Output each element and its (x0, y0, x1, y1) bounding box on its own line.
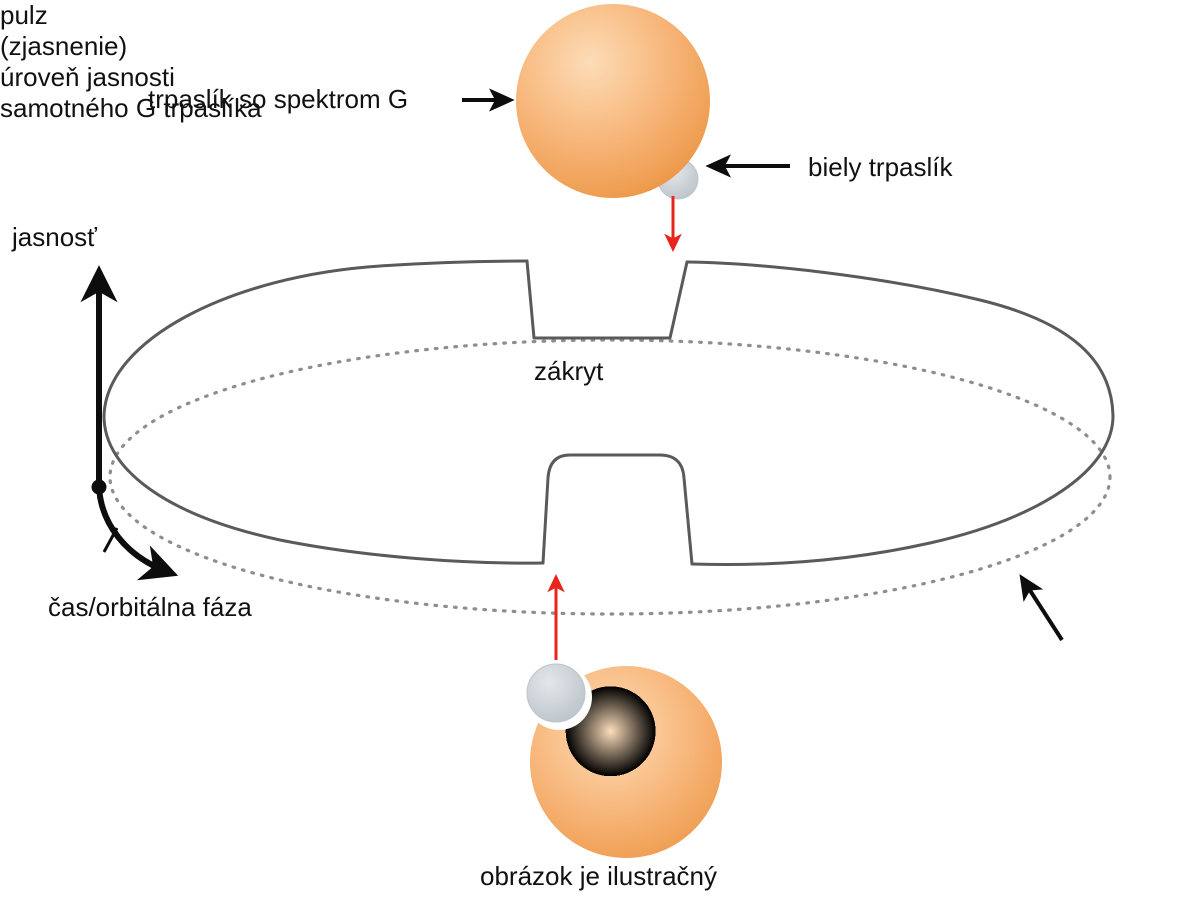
label-time-axis: čas/orbitálna fáza (48, 592, 252, 623)
light-curve-top-right-arc (687, 262, 1113, 416)
label-brightness-axis: jasnosť (12, 222, 97, 253)
orange-star-icon (516, 4, 710, 198)
eclipse-dip (527, 261, 687, 338)
pulse-bump (543, 455, 692, 564)
light-curve-ring (104, 261, 1113, 565)
diagram-canvas: trpaslík so spektrom G biely trpaslík zá… (0, 0, 1200, 914)
label-eclipse: zákryt (534, 356, 603, 387)
top-star-system (516, 4, 710, 199)
time-axis-icon (99, 487, 168, 572)
label-g-dwarf: trpaslík so spektrom G (148, 84, 408, 115)
white-dwarf-icon (527, 664, 585, 722)
light-curve-diagram (0, 0, 1200, 914)
label-white-dwarf: biely trpaslík (808, 152, 953, 183)
light-curve-top-left-arc (104, 261, 527, 416)
light-curve-bottom-right-arc (692, 416, 1113, 565)
bottom-star-system (526, 664, 722, 858)
figure-caption: obrázok je ilustračný (480, 861, 717, 892)
baseline-ellipse (110, 340, 1110, 614)
arrow-up-left-icon (1022, 578, 1062, 640)
axis-tick-icon (104, 528, 117, 552)
